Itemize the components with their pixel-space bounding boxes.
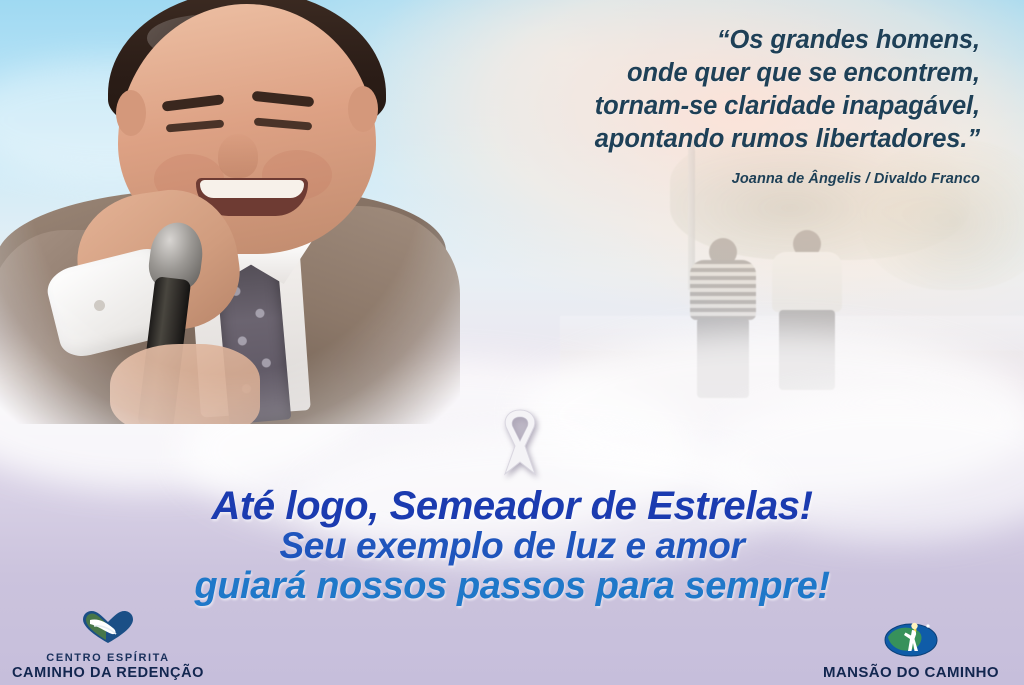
logo-left-line-2: CAMINHO DA REDENÇÃO	[8, 665, 208, 681]
quote-line-2: onde quer que se encontrem,	[420, 57, 980, 90]
logo-mansao-do-caminho: MANSÃO DO CAMINHO	[806, 617, 1016, 681]
teeth	[200, 180, 304, 198]
quote-line-1: “Os grandes homens,	[420, 24, 980, 57]
quote-line-3: tornam-se claridade inapagável,	[420, 90, 980, 123]
logo-left-line-1: CENTRO ESPÍRITA	[8, 652, 208, 665]
headline-line-2: Seu exemplo de luz e amor	[0, 526, 1024, 566]
ear-right	[348, 86, 378, 132]
person-legs	[697, 318, 750, 398]
logo-centro-espirita: CENTRO ESPÍRITA CAMINHO DA REDENÇÃO	[8, 610, 208, 681]
quote-line-4: apontando rumos libertadores.”	[420, 123, 980, 156]
logo-right-line-2: MANSÃO DO CAMINHO	[806, 665, 1016, 681]
portrait-divaldo-franco	[0, 0, 460, 424]
headline-block: Até logo, Semeador de Estrelas! Seu exem…	[0, 486, 1024, 607]
headline-line-1: Até logo, Semeador de Estrelas!	[0, 486, 1024, 526]
ear-left	[116, 90, 146, 136]
person-torso	[690, 260, 756, 320]
quote-attribution: Joanna de Ângelis / Divaldo Franco	[420, 171, 980, 187]
heart-hands-icon	[8, 610, 208, 649]
memorial-poster: “Os grandes homens, onde quer que se enc…	[0, 0, 1024, 685]
nose	[218, 134, 258, 178]
person-torso	[772, 252, 842, 312]
hand-holding-microphone	[110, 344, 260, 434]
globe-figure-icon	[806, 617, 1016, 662]
person-legs	[779, 310, 835, 390]
headline-line-3: guiará nossos passos para sempre!	[0, 566, 1024, 607]
quote-text: “Os grandes homens, onde quer que se enc…	[420, 24, 980, 156]
white-ribbon-icon	[489, 406, 551, 478]
foliage-shape-2	[860, 140, 1024, 290]
cuff-button	[94, 300, 105, 311]
walking-person-white-shirt	[772, 230, 842, 398]
walking-person-striped-shirt	[690, 238, 756, 398]
